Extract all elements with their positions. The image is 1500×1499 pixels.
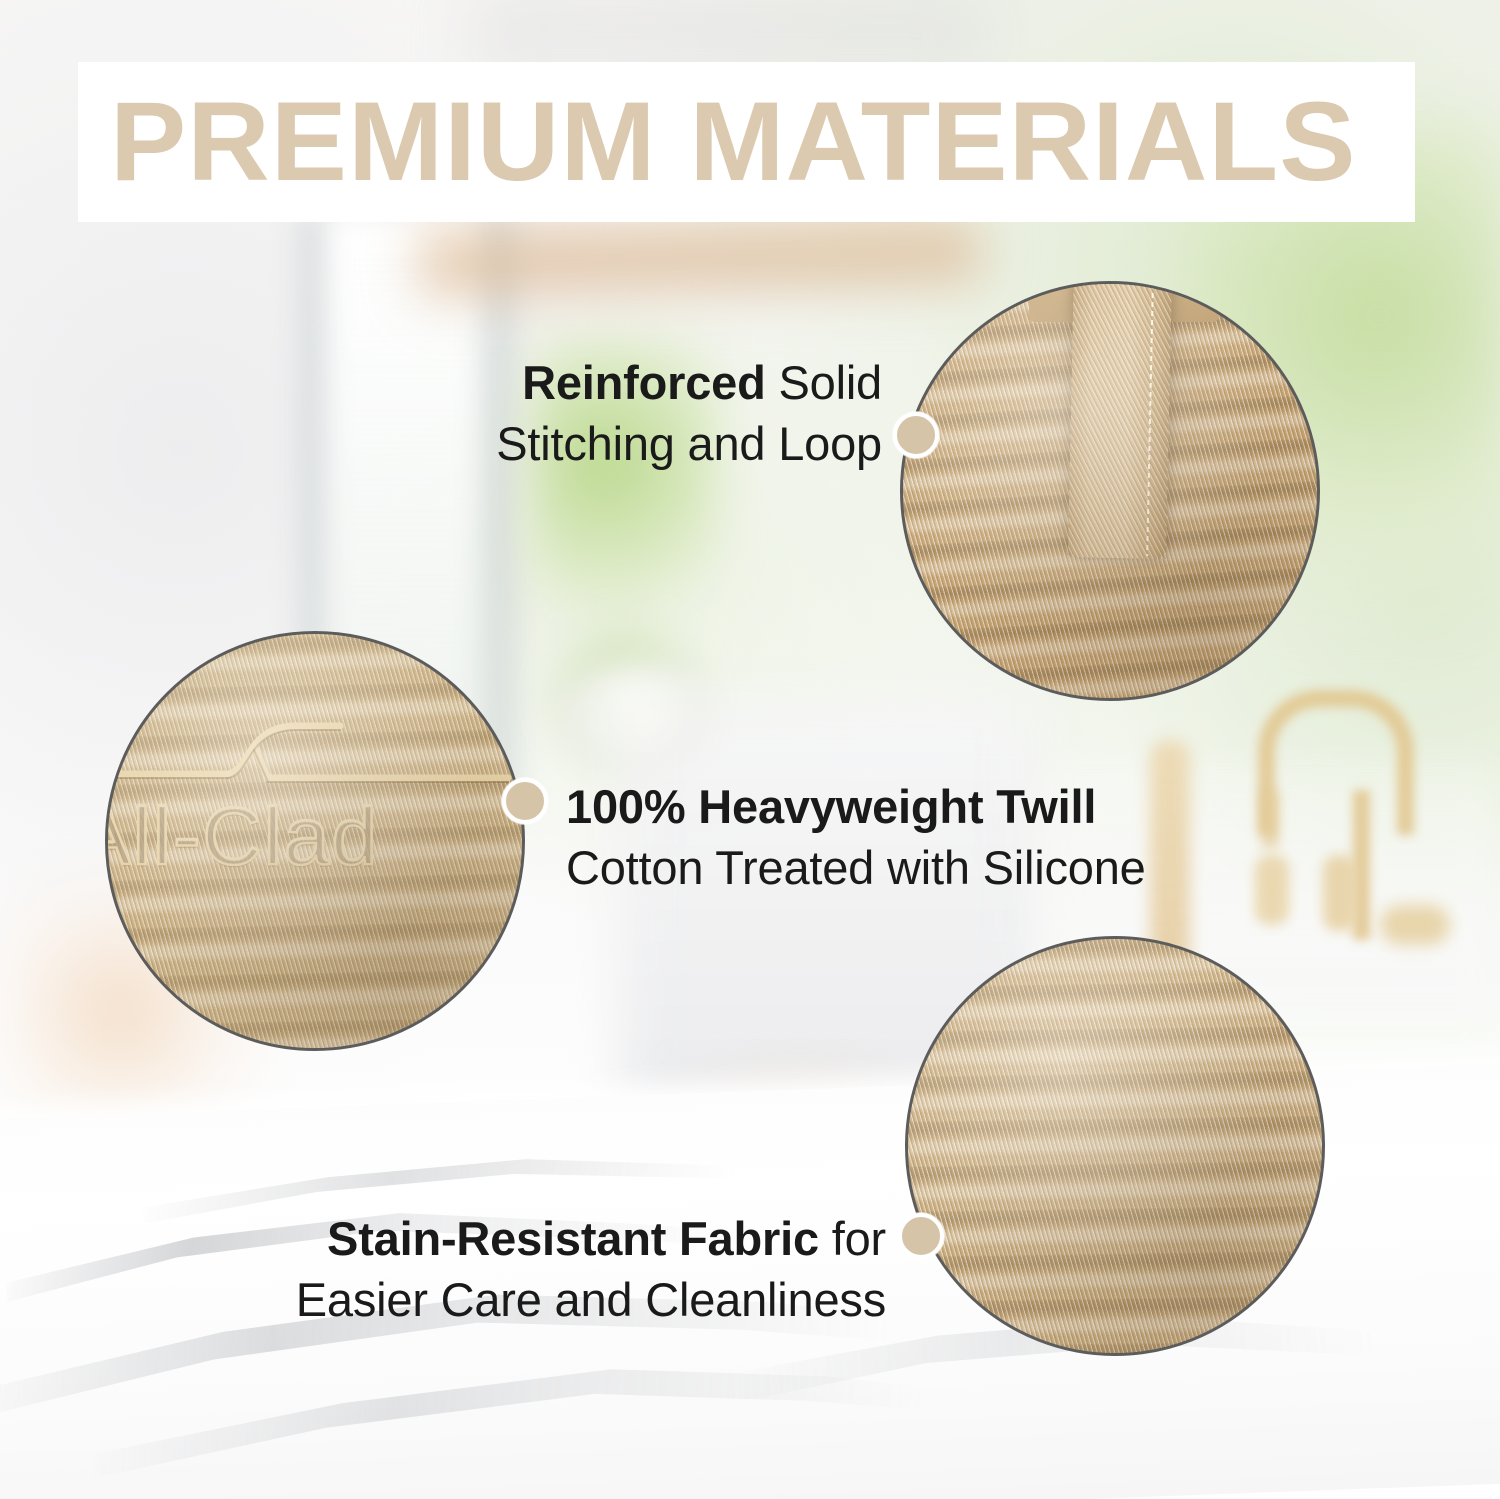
callout-dot-reinforced-stitching bbox=[893, 412, 939, 458]
fabric-loop-closeup-image bbox=[900, 281, 1320, 701]
callout-bold-reinforced-stitching: Reinforced bbox=[522, 356, 766, 409]
striped-twill-fabric-closeup-image bbox=[905, 936, 1325, 1356]
callout-bold-stain-resistant: Stain-Resistant Fabric bbox=[327, 1212, 819, 1265]
callout-text-heavyweight-twill: 100% Heavyweight Twill Cotton Treated wi… bbox=[566, 776, 1166, 898]
callout-bold-heavyweight-twill: 100% Heavyweight Twill bbox=[566, 780, 1096, 833]
bowl-blur bbox=[560, 660, 710, 770]
brass-faucet-arc bbox=[1258, 690, 1414, 835]
callout-dot-stain-resistant bbox=[898, 1213, 944, 1259]
brass-faucet-column-secondary bbox=[1262, 790, 1278, 848]
callout-text-reinforced-stitching: Reinforced Solid Stitching and Loop bbox=[362, 352, 882, 474]
callout-rest-heavyweight-twill: Cotton Treated with Silicone bbox=[566, 841, 1146, 894]
fabric-shading bbox=[903, 284, 1317, 698]
all-clad-embroidery-closeup-image: All-Clad bbox=[105, 631, 525, 1051]
faucet-handle-right bbox=[1323, 855, 1357, 931]
fabric-shading bbox=[108, 634, 522, 1048]
fabric-shading bbox=[908, 939, 1322, 1353]
callout-text-stain-resistant: Stain-Resistant Fabric for Easier Care a… bbox=[210, 1208, 886, 1330]
callout-dot-heavyweight-twill bbox=[502, 778, 548, 824]
faucet-spout bbox=[1380, 905, 1450, 945]
faucet-handle-left bbox=[1255, 855, 1289, 925]
premium-materials-infographic: PREMIUM MATERIALS bbox=[0, 0, 1500, 1499]
page-title: PREMIUM MATERIALS bbox=[110, 74, 1436, 210]
